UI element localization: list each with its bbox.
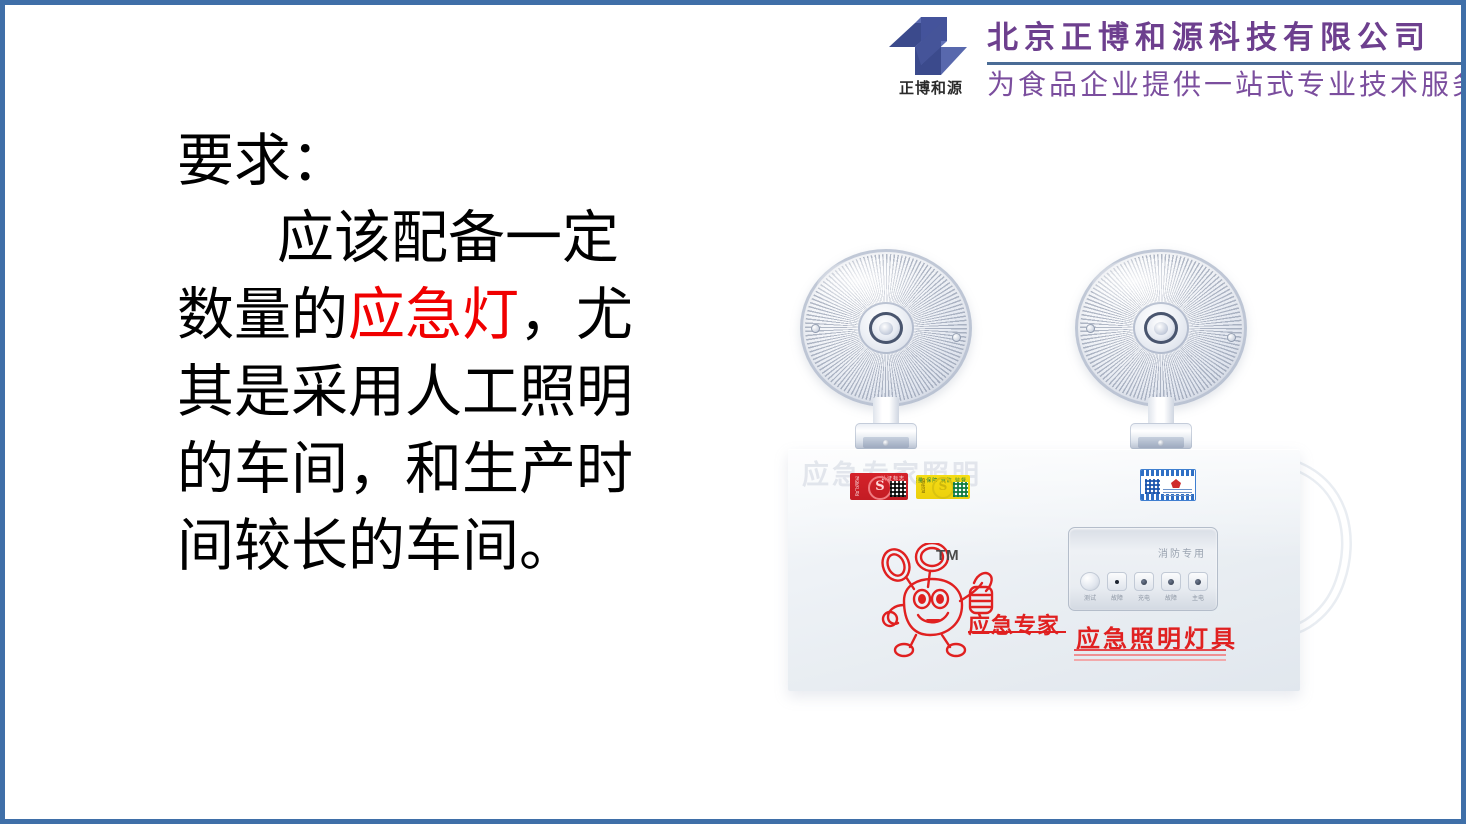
lamp-screw-icon — [1086, 324, 1095, 333]
body-line-4: 的车间，和生产时 — [177, 431, 677, 508]
sticker-side-text: 消防产品 — [852, 476, 859, 496]
body-line-1: 应该配备一定 — [177, 200, 677, 277]
lamp-bracket-right — [1130, 423, 1192, 449]
mascot-brand-underline — [968, 631, 1066, 633]
lamp-head-right — [1075, 249, 1247, 407]
zhengbo-heyuan-logo-icon — [885, 13, 977, 79]
emergency-light-product-image: 应急专家照明 消防产品 认证标志 S ZHENGTONG/TAIYUA 身份证 … — [750, 237, 1370, 707]
sticker-band-top — [1141, 470, 1195, 476]
panel-button-label: 故障 — [1161, 593, 1181, 602]
body-heading: 要求： — [177, 123, 677, 200]
body-line-2-post: ，尤 — [519, 282, 633, 348]
lamp-head-left — [800, 249, 972, 407]
header-divider — [987, 62, 1463, 65]
qr-code-icon — [890, 481, 906, 497]
lamp-reflector-left — [800, 249, 972, 407]
panel-button-label: 故障 — [1107, 593, 1127, 602]
indicator-led-icon[interactable] — [1161, 572, 1181, 591]
ccc-yellow-sticker: 身份证 质量 保障 消防 监督 S ZHENGTONG/TAIYUA — [916, 475, 970, 499]
body-line-5: 间较长的车间。 — [177, 508, 677, 585]
panel-indicator-mains[interactable]: 主电 — [1188, 572, 1208, 602]
slide-header: 正博和源 北京正博和源科技有限公司 为食品企业提供一站式专业技术服务 — [877, 11, 1463, 107]
slide-body-text: 要求： 应该配备一定 数量的应急灯，尤 其是采用人工照明 的车间，和生产时 间较… — [177, 123, 677, 585]
lamp-bracket-left — [855, 423, 917, 449]
lamp-bulb-outer-left — [858, 302, 914, 354]
panel-indicator-fault-1[interactable]: 故障 — [1107, 572, 1127, 602]
qr-code-icon — [953, 482, 968, 497]
company-tagline: 为食品企业提供一站式专业技术服务 — [987, 67, 1466, 103]
panel-title: 消防专用 — [1158, 545, 1206, 560]
indicator-led-icon[interactable] — [1134, 572, 1154, 591]
underline-2 — [1074, 654, 1226, 656]
panel-button-test[interactable]: 测试 — [1080, 572, 1100, 602]
panel-button-label: 充电 — [1134, 593, 1154, 602]
test-knob-icon[interactable] — [1080, 572, 1100, 591]
logo-wordmark: 正博和源 — [883, 77, 979, 98]
panel-button-label: 主电 — [1188, 593, 1208, 602]
panel-indicator-fault-2[interactable]: 故障 — [1161, 572, 1181, 602]
anti-counterfeit-blue-sticker — [1140, 469, 1196, 501]
lamp-reflector-right — [1075, 249, 1247, 407]
lamp-bulb-core-right — [1154, 322, 1168, 335]
product-name-underlines — [1074, 649, 1226, 664]
power-cable — [1290, 455, 1360, 635]
body-line-2-pre: 数量的 — [177, 282, 348, 348]
sticker-text-lines — [1163, 489, 1192, 496]
lamp-body-panel: 应急专家照明 消防产品 认证标志 S ZHENGTONG/TAIYUA 身份证 … — [788, 449, 1300, 691]
company-logo: 正博和源 — [877, 13, 985, 105]
trademark-symbol: TM — [936, 547, 960, 564]
indicator-led-icon[interactable] — [1107, 572, 1127, 591]
qr-code-icon — [1145, 479, 1160, 494]
indicator-led-icon[interactable] — [1188, 572, 1208, 591]
bracket-bolt-icon — [1158, 440, 1164, 446]
lamp-bulb-ring-left — [869, 312, 903, 344]
body-highlight-emergency-light: 应急灯 — [348, 282, 519, 348]
body-line-3: 其是采用人工照明 — [177, 354, 677, 431]
underline-3 — [1074, 659, 1226, 661]
lamp-bulb-ring-right — [1144, 312, 1178, 344]
ccc-red-sticker: 消防产品 认证标志 S ZHENGTONG/TAIYUA — [850, 473, 908, 500]
control-panel[interactable]: 消防专用 测试 故障 充电 — [1068, 527, 1218, 611]
panel-indicator-charging[interactable]: 充电 — [1134, 572, 1154, 602]
underline-1 — [1074, 649, 1226, 651]
slide-canvas: 正博和源 北京正博和源科技有限公司 为食品企业提供一站式专业技术服务 要求： 应… — [0, 0, 1466, 824]
lamp-bulb-core-left — [879, 322, 893, 335]
fire-emblem-icon — [1171, 479, 1181, 488]
header-text-block: 北京正博和源科技有限公司 为食品企业提供一站式专业技术服务 — [987, 11, 1463, 107]
certification-s-mark-icon: S — [868, 476, 892, 500]
body-line-2: 数量的应急灯，尤 — [177, 277, 677, 354]
lamp-screw-icon — [811, 324, 820, 333]
panel-button-label: 测试 — [1080, 593, 1100, 602]
lamp-bulb-outer-right — [1133, 302, 1189, 354]
bracket-bolt-icon — [883, 440, 889, 446]
company-name: 北京正博和源科技有限公司 — [987, 19, 1431, 57]
certification-s-mark-icon: S — [932, 477, 954, 499]
panel-button-row: 测试 故障 充电 故障 — [1080, 572, 1208, 602]
mascot-brand-text: 应急专家 — [968, 608, 1060, 640]
